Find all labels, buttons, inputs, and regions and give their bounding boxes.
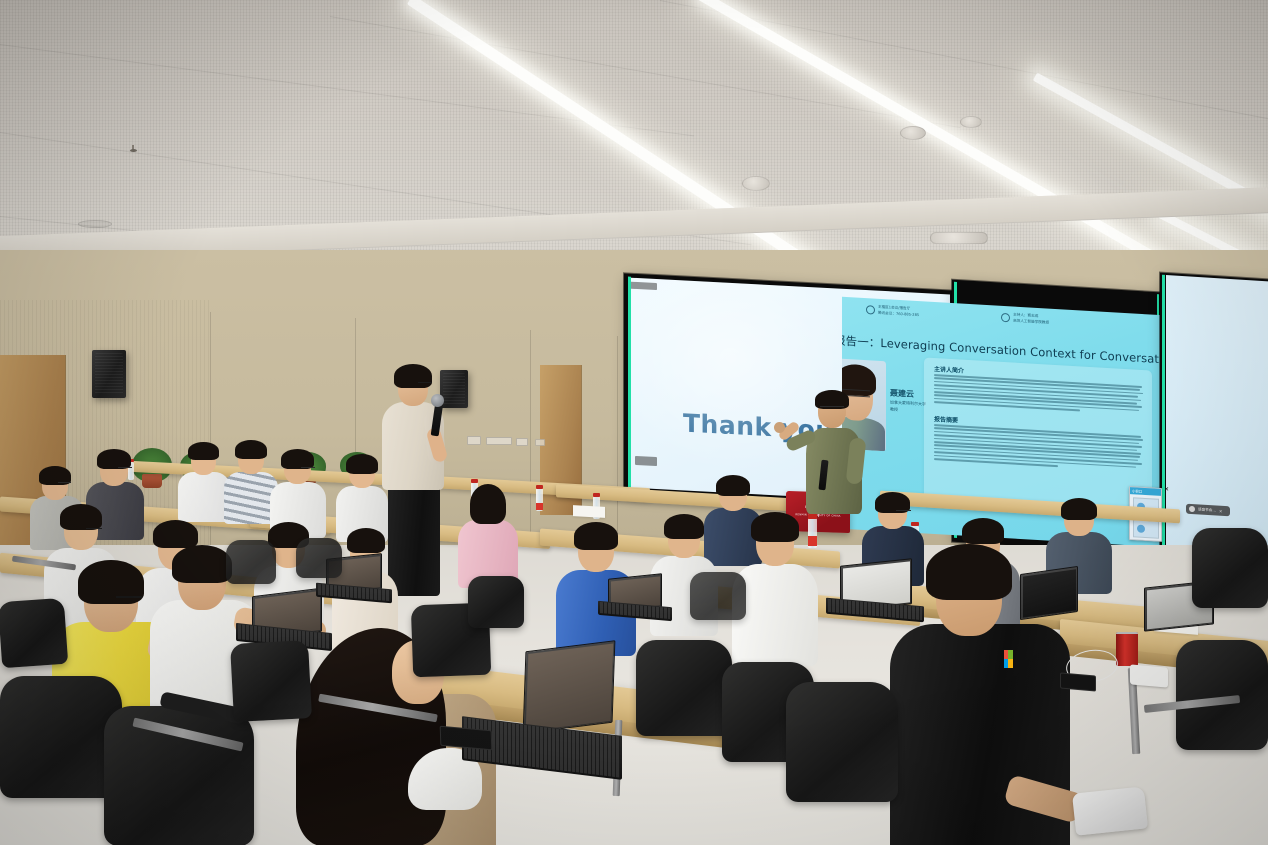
chair[interactable] [1192,528,1268,608]
wall-switch-plate[interactable] [467,436,481,445]
audience-glasses-icon [86,528,102,529]
slide-meta-host: 主持人：窦志成 高瓴人工智能学院教授 [1001,312,1049,325]
location-icon [866,305,875,315]
person-audience-back-3 [178,444,230,520]
speaker-name: 聂建云 [890,387,914,399]
chair[interactable] [230,640,312,722]
audience-hair [235,440,267,459]
audience-hair [962,518,1004,544]
slide-meta-row: 主楼区1会议/报告厅 腾讯会议：760-885-285 主持人：窦志成 高瓴人工… [866,304,1049,325]
wall-outlet-plate[interactable] [486,437,512,445]
audience-hair [664,514,704,539]
microsoft-logo-icon [1004,659,1013,668]
speaker-arm-right [846,437,867,484]
video-call-titlebar: 小窗口 [1130,487,1161,496]
audience-hair [60,504,102,530]
audience-hair-long [470,484,506,524]
audience-hair [716,475,750,496]
laptop-foreground-screen[interactable] [523,640,616,734]
audience-glasses-icon [301,467,315,468]
participant-avatar [1137,524,1145,532]
plant-pot [142,474,162,488]
bottle-cap [471,479,478,483]
video-call-title: 小窗口 [1132,488,1142,494]
video-camera-icon[interactable] [1189,506,1195,512]
chair-back[interactable] [296,538,342,578]
slide-meta-location: 主楼区1会议/报告厅 腾讯会议：760-885-285 [866,304,919,318]
soda-can[interactable] [1116,632,1138,666]
laptop-screen[interactable] [1020,566,1078,620]
chair[interactable] [1176,640,1268,750]
sprinkler-head [130,145,137,154]
chair[interactable] [786,682,898,802]
audience-glasses-icon [118,467,132,468]
person-audience-mid-5 [458,486,518,586]
chair-back[interactable] [226,540,276,584]
audience-hair [346,454,378,474]
person-talk-speaker [800,392,870,512]
laptop-display [525,643,613,731]
audience-hair [574,522,618,550]
person-icon [1001,313,1010,323]
screen-marker [631,282,657,290]
screen-edge-glow [1162,275,1165,547]
speaker-glasses-icon [820,406,844,407]
ceiling-speaker [960,116,982,128]
bottle-label [536,503,543,510]
lecture-hall-photo: Thank you ! 主楼区1会议/报告厅 腾讯会议：760-885-285 [0,0,1268,845]
power-adapter[interactable] [1130,664,1168,687]
chair[interactable] [636,640,732,736]
audience-hair [1061,498,1097,520]
audience-glasses-icon [58,482,71,483]
audience-hair [188,442,219,460]
chair[interactable] [0,598,68,668]
audience-shirt [178,472,230,522]
smartphone[interactable] [1060,672,1096,691]
presenter-glasses-icon [418,382,432,383]
screen-marker [635,456,657,466]
ceiling-speaker [900,126,926,140]
student-glasses-icon [116,596,142,598]
bio-heading-1: 主讲人简介 [934,364,964,375]
wall-outlet-plate[interactable] [516,438,528,446]
ceiling-vent [78,220,112,228]
chair[interactable] [468,576,524,628]
audience-hair [153,520,198,548]
audience-hair [281,449,314,469]
meta-location-line2: 腾讯会议：760-885-285 [878,311,919,318]
wall-outlet-plate[interactable] [535,439,545,446]
video-call-toolbar-close-icon[interactable]: ✕ [1219,508,1222,513]
bio-heading-2: 报告摘要 [934,414,958,424]
audience-glasses-icon [896,510,911,511]
audience-hair [751,512,799,542]
meta-host-line2: 高瓴人工智能学院教授 [1013,319,1049,326]
wall-speaker-left [92,350,126,398]
ceiling-air-diffuser [930,232,988,244]
speaker-affiliation-2: 教授 [890,406,898,412]
microsoft-logo-icon [1004,650,1013,659]
bottle-cap [593,493,600,497]
microphone-head [431,394,444,407]
speaker-hand [774,422,785,433]
video-call-toolbar-label: 语音节会… [1198,507,1216,513]
ceiling-speaker [742,176,770,191]
laptop-display [1023,569,1076,617]
presenter-hair [394,364,432,388]
chair-back[interactable] [690,572,746,620]
audience-hair [97,449,131,469]
paper-sheet [573,505,605,518]
white-sneaker [1072,786,1148,835]
video-call-close-icon[interactable]: ✕ [1164,487,1169,493]
student-hair [172,545,232,583]
bottle-cap [536,485,543,489]
